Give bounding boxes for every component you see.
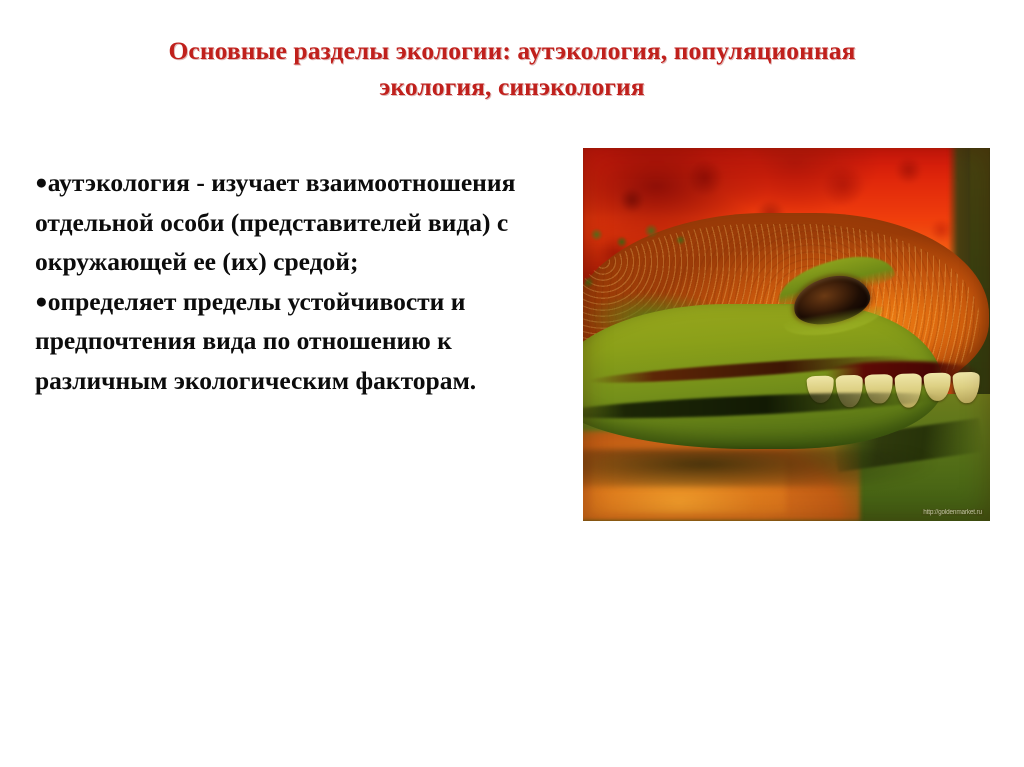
crocodile-photo-canvas: http://goldenmarket.ru	[583, 148, 990, 521]
bullet-item-2: ●определяет пределы устойчивости и предп…	[35, 282, 580, 401]
bullet-point-icon: ●	[35, 170, 48, 194]
crocodile-photo: http://goldenmarket.ru	[583, 148, 990, 521]
crocodile-tooth	[952, 372, 980, 404]
slide-title: Основные разделы экологии: аутэкология, …	[40, 33, 984, 105]
body-text-block: ●аутэкология - изучает взаимоотношения о…	[35, 163, 580, 400]
slide-canvas: Основные разделы экологии: аутэкология, …	[0, 0, 1024, 767]
crocodile-cast-shadow	[583, 449, 971, 487]
bullet-item-1-text: аутэкология - изучает взаимоотношения от…	[35, 168, 522, 276]
bullet-point-icon: ●	[35, 289, 48, 313]
photo-watermark: http://goldenmarket.ru	[922, 509, 984, 516]
crocodile-head-group	[583, 208, 990, 477]
slide-title-line-2: экология, синэкология	[40, 69, 984, 105]
bullet-item-1: ●аутэкология - изучает взаимоотношения о…	[35, 163, 580, 282]
bullet-item-2-text: определяет пределы устойчивости и предпо…	[35, 287, 476, 395]
slide-title-line-1: Основные разделы экологии: аутэкология, …	[40, 33, 984, 69]
